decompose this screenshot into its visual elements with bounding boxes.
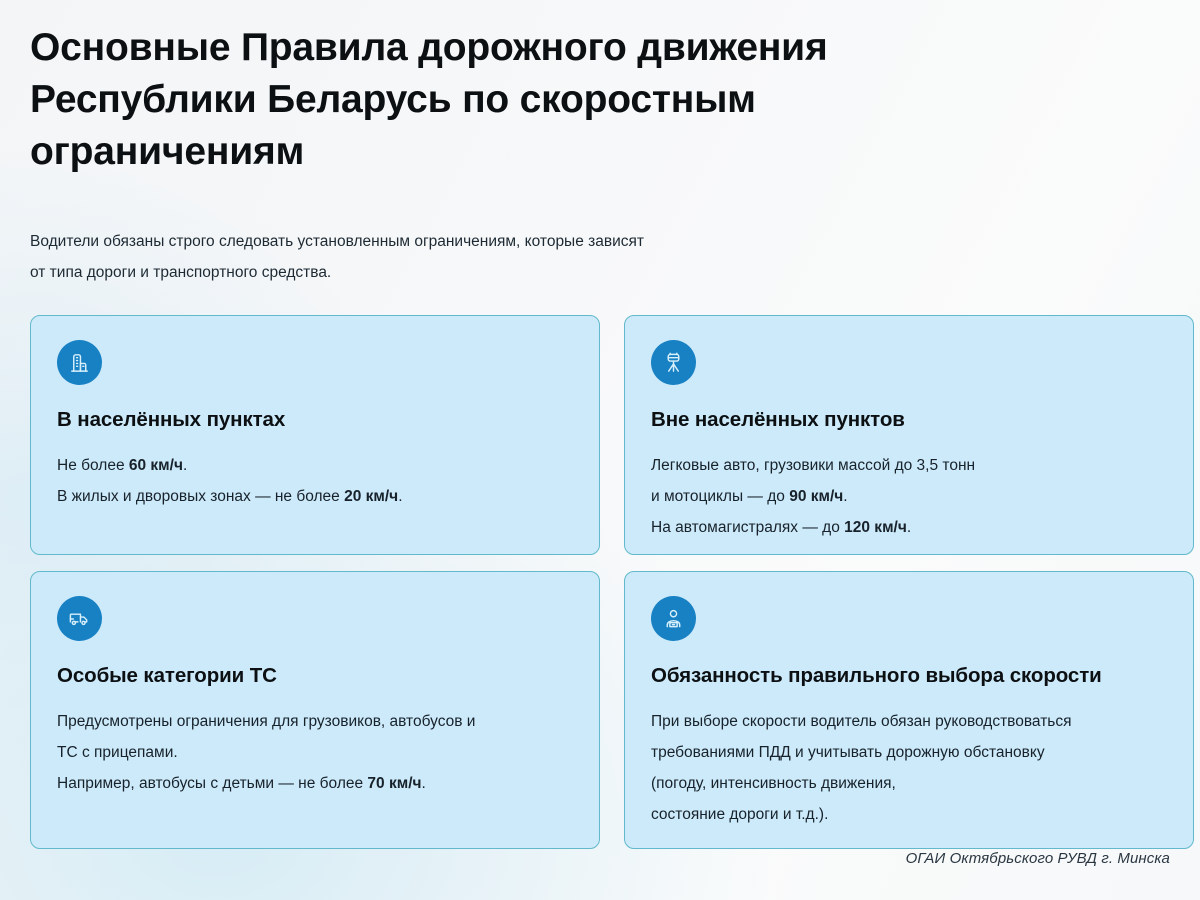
card-speed-choice-duty: Обязанность правильного выбора скоростиП…	[624, 571, 1194, 849]
card-body-line: Не более 60 км/ч.	[57, 450, 573, 481]
building-icon	[68, 351, 91, 374]
card-body-line: Легковые авто, грузовики массой до 3,5 т…	[651, 450, 1167, 481]
card-special-vehicle-categories: Особые категории ТСПредусмотрены огранич…	[30, 571, 600, 849]
card-settlements: В населённых пунктахНе более 60 км/ч.В ж…	[30, 315, 600, 555]
intro-paragraph: Водители обязаны строго следовать устано…	[30, 226, 850, 288]
body-text: .	[183, 457, 187, 474]
card-body: При выборе скорости водитель обязан руко…	[651, 706, 1167, 830]
card-body-line: состояние дороги и т.д.).	[651, 799, 1167, 830]
speed-limit-value: 60 км/ч	[129, 457, 183, 474]
header: Основные Правила дорожного движения Респ…	[30, 0, 1170, 178]
infographic-page: Основные Правила дорожного движения Респ…	[0, 0, 1200, 900]
street-lamp-icon-badge	[651, 340, 696, 385]
card-title: Особые категории ТС	[57, 663, 573, 689]
body-text: Не более	[57, 457, 129, 474]
card-body-line: Например, автобусы с детьми — не более 7…	[57, 768, 573, 799]
card-body-line: Предусмотрены ограничения для грузовиков…	[57, 706, 573, 737]
speed-limit-value: 90 км/ч	[789, 488, 843, 505]
card-body: Предусмотрены ограничения для грузовиков…	[57, 706, 573, 799]
body-text: Легковые авто, грузовики массой до 3,5 т…	[651, 457, 975, 474]
card-title: В населённых пунктах	[57, 407, 573, 433]
card-body: Легковые авто, грузовики массой до 3,5 т…	[651, 450, 1167, 543]
card-title: Вне населённых пунктов	[651, 407, 1167, 433]
card-body-line: ТС с прицепами.	[57, 737, 573, 768]
card-body-line: В жилых и дворовых зонах — не более 20 к…	[57, 481, 573, 512]
speed-limit-value: 70 км/ч	[367, 775, 421, 792]
card-outside-settlements: Вне населённых пунктовЛегковые авто, гру…	[624, 315, 1194, 555]
body-text: требованиями ПДД и учитывать дорожную об…	[651, 744, 1045, 761]
card-grid: В населённых пунктахНе более 60 км/ч.В ж…	[30, 315, 1170, 849]
card-body-line: При выборе скорости водитель обязан руко…	[651, 706, 1167, 737]
body-text: (погоду, интенсивность движения,	[651, 775, 896, 792]
body-text: ТС с прицепами.	[57, 744, 178, 761]
body-text: При выборе скорости водитель обязан руко…	[651, 713, 1072, 730]
body-text: .	[422, 775, 426, 792]
street-lamp-icon	[662, 351, 685, 374]
body-text: .	[398, 488, 402, 505]
footer-attribution: ОГАИ Октябрьского РУВД г. Минска	[906, 850, 1170, 867]
card-title: Обязанность правильного выбора скорости	[651, 663, 1167, 689]
speed-limit-value: 120 км/ч	[844, 519, 907, 536]
driver-icon	[662, 607, 685, 630]
body-text: .	[843, 488, 847, 505]
body-text: На автомагистралях — до	[651, 519, 844, 536]
body-text: состояние дороги и т.д.).	[651, 806, 828, 823]
intro-line-2: от типа дороги и транспортного средства.	[30, 257, 850, 288]
card-body: Не более 60 км/ч.В жилых и дворовых зона…	[57, 450, 573, 512]
driver-icon-badge	[651, 596, 696, 641]
body-text: .	[907, 519, 911, 536]
card-body-line: и мотоциклы — до 90 км/ч.	[651, 481, 1167, 512]
truck-icon	[68, 607, 91, 630]
speed-limit-value: 20 км/ч	[344, 488, 398, 505]
building-icon-badge	[57, 340, 102, 385]
page-title: Основные Правила дорожного движения Респ…	[30, 22, 1030, 178]
body-text: и мотоциклы — до	[651, 488, 789, 505]
card-body-line: (погоду, интенсивность движения,	[651, 768, 1167, 799]
body-text: В жилых и дворовых зонах — не более	[57, 488, 344, 505]
truck-icon-badge	[57, 596, 102, 641]
body-text: Например, автобусы с детьми — не более	[57, 775, 367, 792]
card-body-line: На автомагистралях — до 120 км/ч.	[651, 512, 1167, 543]
body-text: Предусмотрены ограничения для грузовиков…	[57, 713, 475, 730]
intro-line-1: Водители обязаны строго следовать устано…	[30, 226, 850, 257]
card-body-line: требованиями ПДД и учитывать дорожную об…	[651, 737, 1167, 768]
